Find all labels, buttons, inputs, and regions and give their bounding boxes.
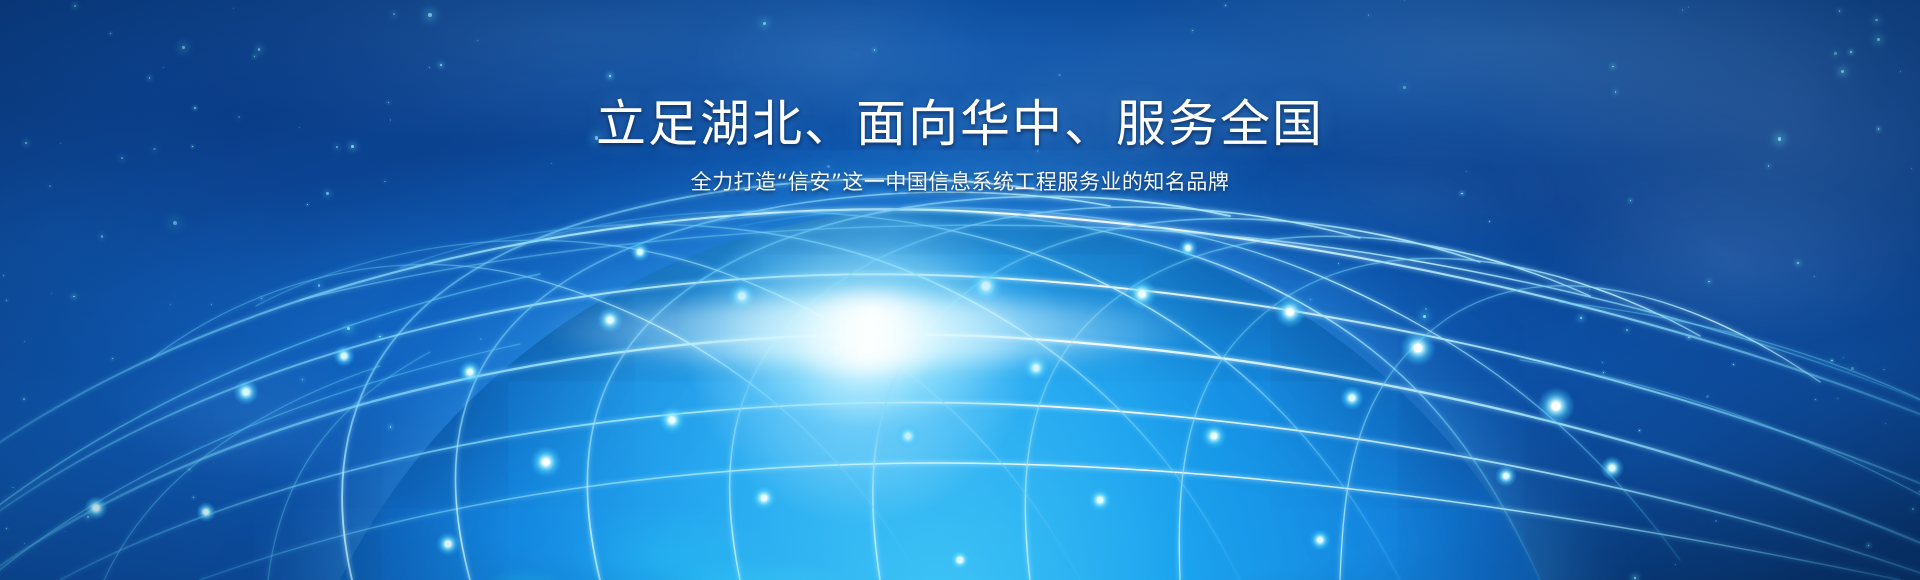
hero-banner: 立足湖北、面向华中、服务全国 全力打造“信安”这一中国信息系统工程服务业的知名品… (0, 0, 1920, 580)
banner-headline: 立足湖北、面向华中、服务全国 (0, 96, 1920, 152)
banner-copy: 立足湖北、面向华中、服务全国 全力打造“信安”这一中国信息系统工程服务业的知名品… (0, 96, 1920, 196)
earth-globe (0, 150, 1920, 580)
banner-subline: 全力打造“信安”这一中国信息系统工程服务业的知名品牌 (0, 169, 1920, 196)
